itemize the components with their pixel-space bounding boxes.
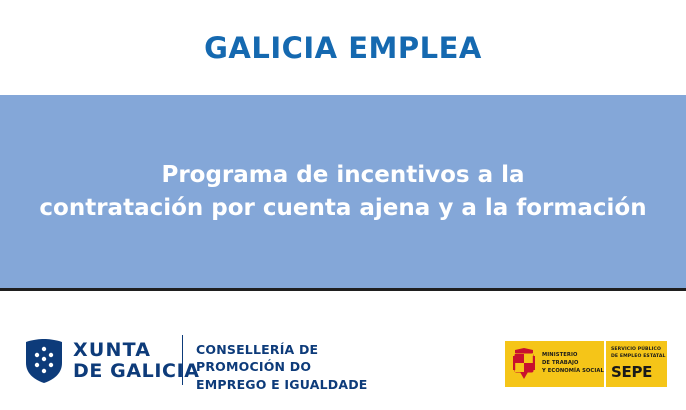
title-area: GALICIA EMPLEA xyxy=(0,0,686,95)
xunta-line-2: DE GALICIA xyxy=(73,361,200,382)
xunta-wordmark: XUNTA DE GALICIA xyxy=(73,340,200,381)
ministerio-line-3: Y ECONOMÍA SOCIAL xyxy=(542,368,604,376)
sepe-line-1: SERVICIO PÚBLICO xyxy=(611,347,666,354)
page-title: GALICIA EMPLEA xyxy=(204,31,482,65)
ministerio-sepe-logo: MINISTERIO DE TRABAJO Y ECONOMÍA SOCIAL … xyxy=(505,341,667,387)
spain-coat-of-arms-icon xyxy=(511,347,537,381)
footer-vertical-divider xyxy=(182,335,183,385)
ministerio-line-1: MINISTERIO xyxy=(542,352,604,360)
subtitle-band: Programa de incentivos a la contratación… xyxy=(0,95,686,288)
conselleria-line-2: PROMOCIÓN DO xyxy=(196,358,368,375)
sepe-subtitle: SERVICIO PÚBLICO DE EMPLEO ESTATAL xyxy=(611,347,666,360)
sepe-wordmark: SEPE xyxy=(611,363,652,381)
conselleria-line-3: EMPREGO E IGUALDADE xyxy=(196,376,368,393)
conselleria-line-1: CONSELLERÍA DE xyxy=(196,341,368,358)
xunta-de-galicia-logo: XUNTA DE GALICIA xyxy=(24,338,200,384)
subtitle-block: Programa de incentivos a la contratación… xyxy=(23,159,663,224)
ministerio-block: MINISTERIO DE TRABAJO Y ECONOMÍA SOCIAL xyxy=(505,341,604,387)
ministerio-text: MINISTERIO DE TRABAJO Y ECONOMÍA SOCIAL xyxy=(542,352,604,375)
conselleria-text: CONSELLERÍA DE PROMOCIÓN DO EMPREGO E IG… xyxy=(196,341,368,393)
subtitle-line-2: contratación por cuenta ajena y a la for… xyxy=(23,192,663,225)
poster-page: GALICIA EMPLEA Programa de incentivos a … xyxy=(0,0,686,410)
ministerio-line-2: DE TRABAJO xyxy=(542,360,604,368)
footer-logos: XUNTA DE GALICIA CONSELLERÍA DE PROMOCIÓ… xyxy=(0,291,686,410)
sepe-line-2: DE EMPLEO ESTATAL xyxy=(611,354,666,361)
subtitle-line-1: Programa de incentivos a la xyxy=(23,159,663,192)
sepe-block: SERVICIO PÚBLICO DE EMPLEO ESTATAL SEPE xyxy=(604,341,667,387)
xunta-shield-icon xyxy=(24,338,64,384)
xunta-line-1: XUNTA xyxy=(73,340,200,361)
